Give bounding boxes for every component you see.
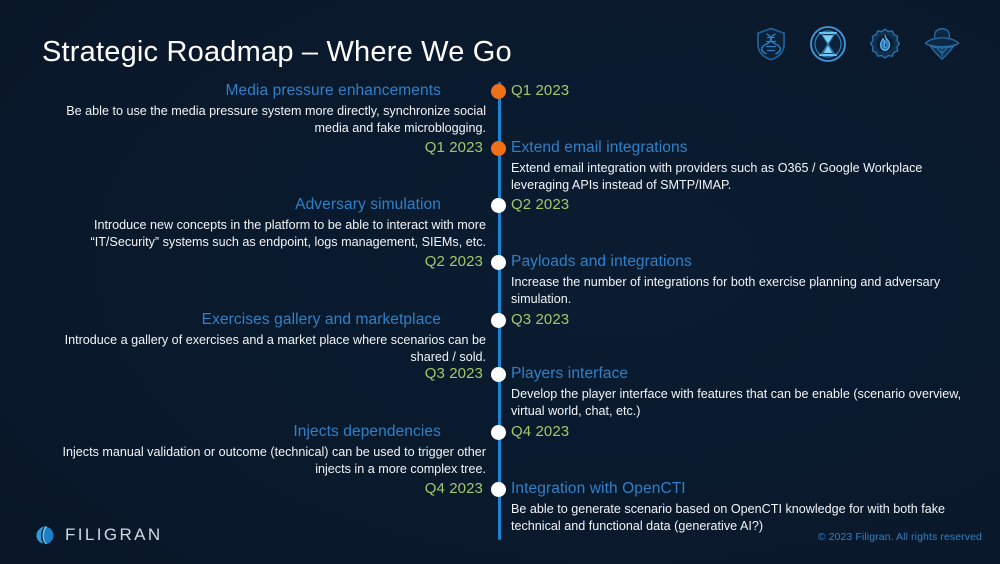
timeline-item-headline: Media pressure enhancements [225, 82, 441, 100]
timeline-dot [491, 255, 506, 270]
timeline-item-body: Extend email integration with providers … [511, 160, 981, 193]
timeline-dot [491, 367, 506, 382]
timeline-item-body: Introduce new concepts in the platform t… [46, 217, 486, 250]
filigran-mark-icon [34, 524, 56, 546]
timeline-item-body: Be able to use the media pressure system… [46, 103, 486, 136]
timeline-item-quarter: Q4 2023 [425, 480, 483, 497]
timeline-item-quarter: Q4 2023 [511, 423, 569, 440]
timeline-dot [491, 141, 506, 156]
timeline-dot [491, 198, 506, 213]
timeline-item-body: Introduce a gallery of exercises and a m… [46, 332, 486, 365]
timeline-item-body: Increase the number of integrations for … [511, 274, 981, 307]
timeline-item-body: Injects manual validation or outcome (te… [46, 444, 486, 477]
timeline-item-headline: Extend email integrations [511, 139, 688, 157]
filigran-wordmark: FILIGRAN [65, 525, 163, 545]
timeline-item-quarter: Q3 2023 [425, 365, 483, 382]
timeline-item-body: Develop the player interface with featur… [511, 386, 981, 419]
timeline-item-headline: Exercises gallery and marketplace [202, 311, 441, 329]
timeline-dot [491, 482, 506, 497]
timeline-item-headline: Integration with OpenCTI [511, 480, 686, 498]
timeline-dot [491, 425, 506, 440]
roadmap-timeline: Media pressure enhancementsQ1 2023Be abl… [0, 0, 1000, 564]
filigran-logo: FILIGRAN [34, 524, 163, 546]
timeline-item-headline: Adversary simulation [295, 196, 441, 214]
timeline-item-headline: Injects dependencies [293, 423, 441, 441]
timeline-item-quarter: Q1 2023 [425, 139, 483, 156]
timeline-dot [491, 313, 506, 328]
timeline-item-headline: Players interface [511, 365, 628, 383]
timeline-item-headline: Payloads and integrations [511, 253, 692, 271]
timeline-item-quarter: Q2 2023 [511, 196, 569, 213]
timeline-item-quarter: Q2 2023 [425, 253, 483, 270]
timeline-item-body: Be able to generate scenario based on Op… [511, 501, 981, 534]
copyright-text: © 2023 Filigran. All rights reserved [818, 531, 982, 543]
timeline-item-quarter: Q1 2023 [511, 82, 569, 99]
timeline-item-quarter: Q3 2023 [511, 311, 569, 328]
timeline-dot [491, 84, 506, 99]
